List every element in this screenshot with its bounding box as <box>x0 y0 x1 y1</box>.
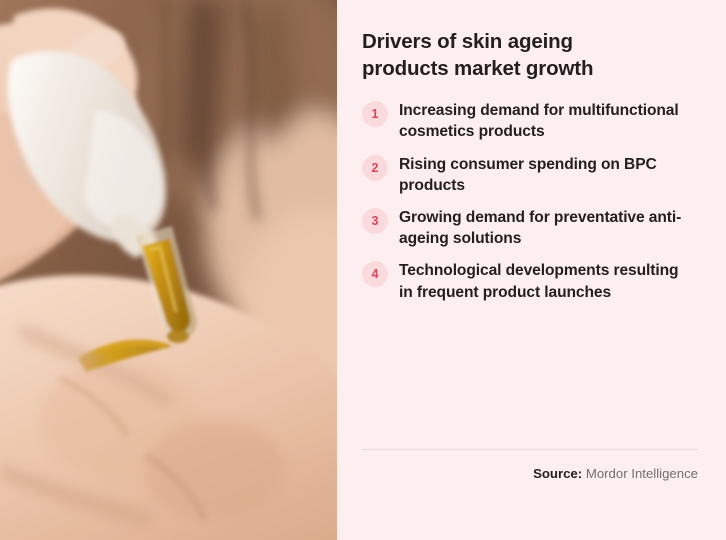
driver-number-badge: 2 <box>362 155 388 181</box>
infographic-card: Drivers of skin ageing products market g… <box>0 0 726 540</box>
source-value: Mordor Intelligence <box>586 466 698 481</box>
list-item: 1 Increasing demand for multifunctional … <box>362 100 698 142</box>
page-title: Drivers of skin ageing products market g… <box>362 28 662 82</box>
list-item: 2 Rising consumer spending on BPC produc… <box>362 154 698 196</box>
driver-number-badge: 1 <box>362 101 388 127</box>
driver-number-badge: 3 <box>362 208 388 234</box>
source-attribution: Source: Mordor Intelligence <box>533 466 698 481</box>
drivers-panel: Drivers of skin ageing products market g… <box>337 0 726 540</box>
footer-divider <box>362 449 698 450</box>
drivers-list: 1 Increasing demand for multifunctional … <box>362 100 698 303</box>
driver-text: Rising consumer spending on BPC products <box>399 154 695 196</box>
serum-application-photo <box>0 0 337 540</box>
driver-text: Technological developments resulting in … <box>399 260 695 302</box>
driver-text: Growing demand for preventative anti-age… <box>399 207 695 249</box>
source-label: Source: <box>533 466 582 481</box>
list-item: 4 Technological developments resulting i… <box>362 260 698 302</box>
driver-text: Increasing demand for multifunctional co… <box>399 100 695 142</box>
photo-illustration <box>0 0 337 540</box>
driver-number-badge: 4 <box>362 261 388 287</box>
list-item: 3 Growing demand for preventative anti-a… <box>362 207 698 249</box>
